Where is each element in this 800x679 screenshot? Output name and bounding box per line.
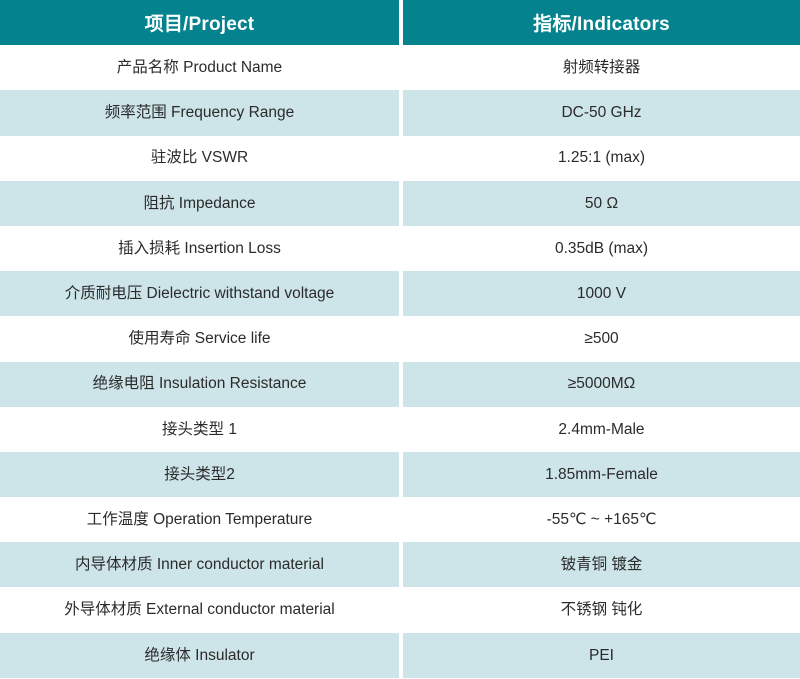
cell-indicator: DC-50 GHz — [403, 90, 800, 135]
table-row: 绝缘电阻 Insulation Resistance≥5000MΩ — [0, 362, 800, 407]
column-header-project: 项目/Project — [0, 0, 399, 45]
table-row: 驻波比 VSWR1.25:1 (max) — [0, 136, 800, 181]
table-row: 插入损耗 Insertion Loss0.35dB (max) — [0, 226, 800, 271]
cell-project: 频率范围 Frequency Range — [0, 90, 399, 135]
table-row: 使用寿命 Service life≥500 — [0, 316, 800, 361]
cell-indicator: 铍青铜 镀金 — [403, 542, 800, 587]
cell-project: 阻抗 Impedance — [0, 181, 399, 226]
cell-project: 绝缘体 Insulator — [0, 633, 399, 678]
table-row: 频率范围 Frequency RangeDC-50 GHz — [0, 90, 800, 135]
column-header-indicators: 指标/Indicators — [403, 0, 800, 45]
header-row: 项目/Project 指标/Indicators — [0, 0, 800, 45]
cell-project: 外导体材质 External conductor material — [0, 587, 399, 632]
cell-indicator: 0.35dB (max) — [403, 226, 800, 271]
table-row: 接头类型21.85mm-Female — [0, 452, 800, 497]
cell-project: 接头类型 1 — [0, 407, 399, 452]
cell-indicator: ≥5000MΩ — [403, 362, 800, 407]
cell-project: 产品名称 Product Name — [0, 45, 399, 90]
cell-indicator: ≥500 — [403, 316, 800, 361]
table-row: 介质耐电压 Dielectric withstand voltage1000 V — [0, 271, 800, 316]
cell-project: 介质耐电压 Dielectric withstand voltage — [0, 271, 399, 316]
cell-indicator: 不锈钢 钝化 — [403, 587, 800, 632]
cell-indicator: 50 Ω — [403, 181, 800, 226]
table-row: 阻抗 Impedance50 Ω — [0, 181, 800, 226]
cell-project: 驻波比 VSWR — [0, 136, 399, 181]
cell-project: 绝缘电阻 Insulation Resistance — [0, 362, 399, 407]
cell-project: 插入损耗 Insertion Loss — [0, 226, 399, 271]
table-row: 外导体材质 External conductor material不锈钢 钝化 — [0, 587, 800, 632]
cell-indicator: 1.85mm-Female — [403, 452, 800, 497]
cell-project: 接头类型2 — [0, 452, 399, 497]
cell-indicator: PEI — [403, 633, 800, 678]
table-header: 项目/Project 指标/Indicators — [0, 0, 800, 45]
table-row: 内导体材质 Inner conductor material铍青铜 镀金 — [0, 542, 800, 587]
cell-indicator: 1.25:1 (max) — [403, 136, 800, 181]
cell-project: 工作温度 Operation Temperature — [0, 497, 399, 542]
specification-table: 项目/Project 指标/Indicators 产品名称 Product Na… — [0, 0, 800, 678]
cell-indicator: -55℃ ~ +165℃ — [403, 497, 800, 542]
table-body: 产品名称 Product Name射频转接器频率范围 Frequency Ran… — [0, 45, 800, 678]
cell-project: 使用寿命 Service life — [0, 316, 399, 361]
table-row: 产品名称 Product Name射频转接器 — [0, 45, 800, 90]
cell-indicator: 2.4mm-Male — [403, 407, 800, 452]
cell-indicator: 射频转接器 — [403, 45, 800, 90]
table-row: 绝缘体 InsulatorPEI — [0, 633, 800, 678]
table-row: 接头类型 12.4mm-Male — [0, 407, 800, 452]
cell-project: 内导体材质 Inner conductor material — [0, 542, 399, 587]
table-row: 工作温度 Operation Temperature-55℃ ~ +165℃ — [0, 497, 800, 542]
cell-indicator: 1000 V — [403, 271, 800, 316]
